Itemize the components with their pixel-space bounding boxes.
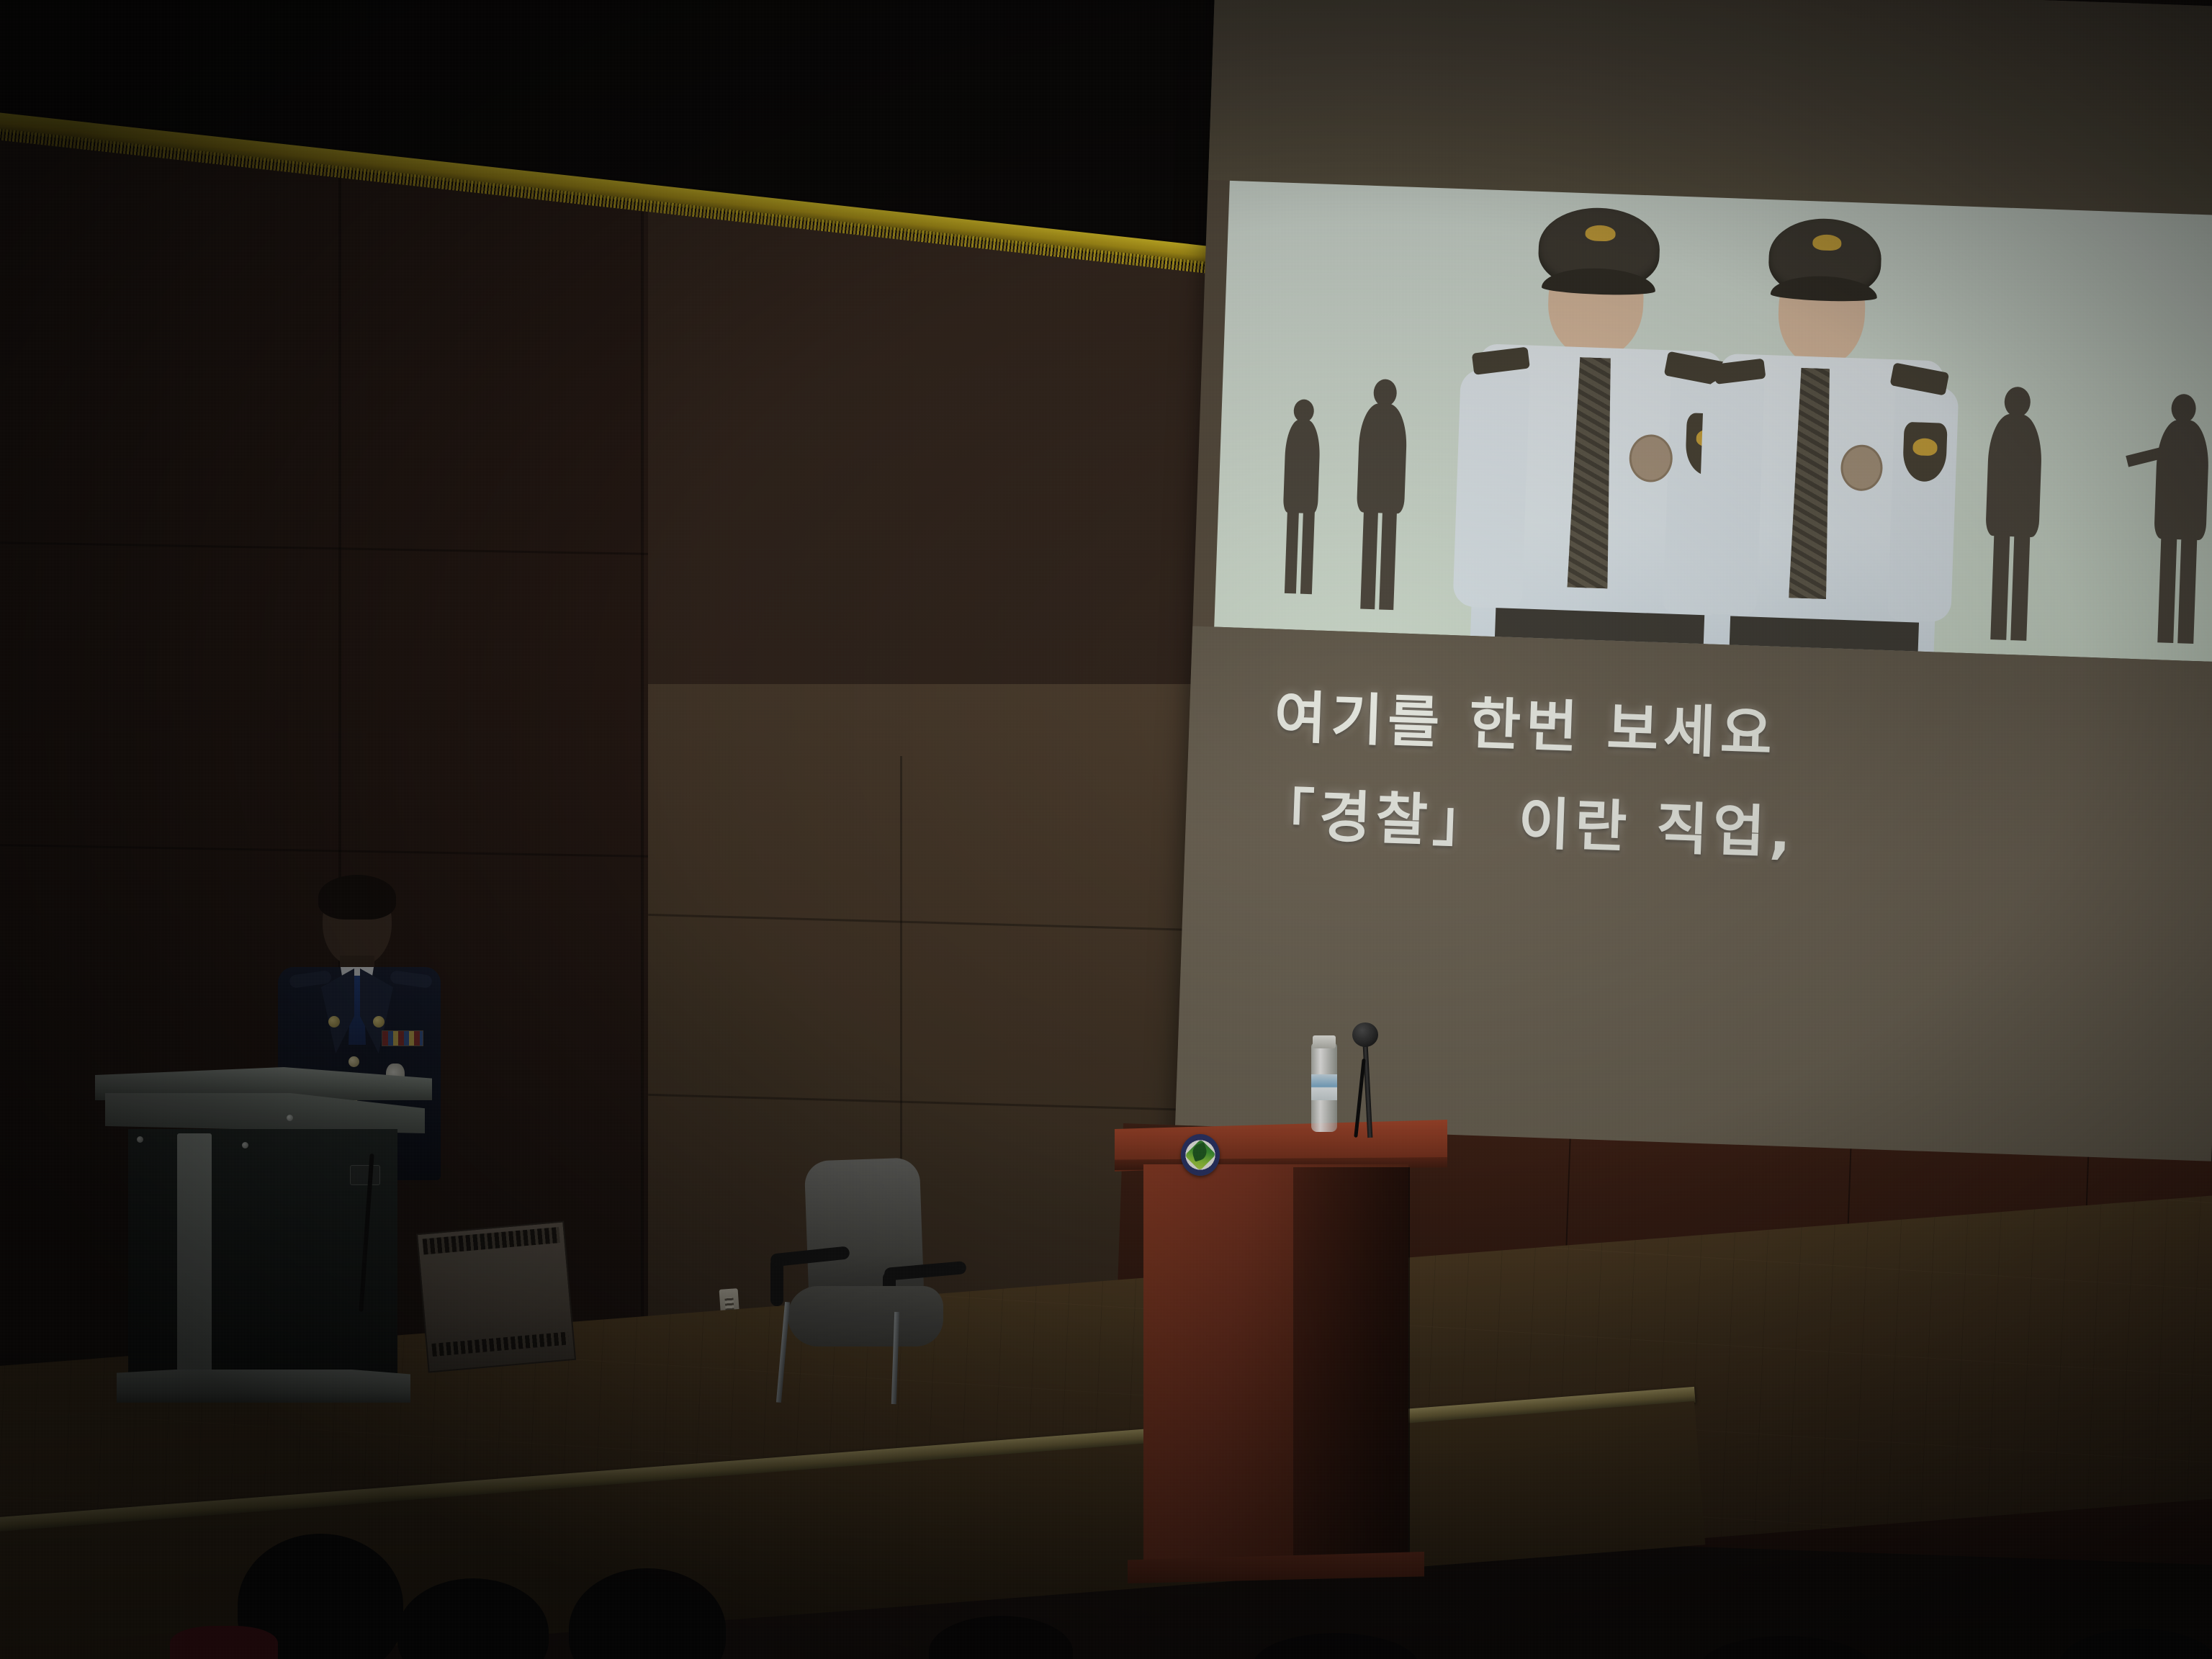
lectern-screw [137,1136,143,1143]
chair-seat [788,1286,943,1346]
officer-arm [1452,369,1529,608]
officer-patch-emblem [1912,438,1938,456]
water-bottle-label [1311,1074,1337,1100]
water-bottle-cap [1313,1035,1336,1048]
silhouette-figure [2157,534,2177,643]
officer-cap-badge [1585,225,1616,241]
silhouette-figure [1283,419,1321,514]
school-crest-emblem [1181,1134,1220,1176]
silhouette-figure [1985,413,2043,537]
lectern-accent-strip [177,1133,212,1375]
wall-seam [900,756,902,1159]
silhouette-figure [1379,509,1397,611]
silhouette-figure [2004,387,2031,418]
presenter-collar-pin-right [373,1016,385,1028]
microphone-capsule-icon [1352,1022,1378,1047]
wooden-podium [1115,1120,1447,1595]
officer-cap-badge [1812,234,1842,251]
silhouette-figure [1357,403,1408,513]
presenter-ribbon-bar [382,1030,423,1046]
audience-clothing [170,1626,278,1659]
officer-arm [1887,385,1959,622]
silhouette-figure [1300,508,1315,594]
silhouette-figure [1373,379,1397,407]
screen-top-band [1208,0,2212,216]
silhouette-figure [1285,507,1299,593]
slide-text-line-2: 「경찰」 이란 직업, [1256,770,1797,869]
presenter-jacket-button [349,1056,359,1067]
wall-heater-unit [416,1220,576,1372]
wall-seam [641,115,644,1339]
silhouette-figure [1990,531,2010,640]
presenter-hair [318,875,396,920]
lectern-screw [242,1142,248,1148]
silhouette-figure [2177,535,2197,644]
heater-top-vent [423,1227,560,1254]
speaker-lectern [108,1067,418,1449]
officer-arm [1696,379,1764,616]
slide-photograph [1214,181,2212,662]
grey-armchair [762,1159,978,1404]
heater-bottom-vent [431,1332,569,1357]
chair-armrest-left-post [770,1257,783,1306]
lectern-screw [287,1115,293,1121]
podium-body-shadow [1293,1167,1410,1568]
projection-screen: 여기를 한번 보세요 「경찰」 이란 직업, [1174,0,2212,1187]
silhouette-figure [2010,532,2030,641]
silhouette-figure [2171,394,2196,423]
auditorium-photo: 여기를 한번 보세요 「경찰」 이란 직업, [0,0,2212,1659]
chair-leg-left [776,1302,790,1403]
silhouette-figure [2154,419,2210,540]
presenter-collar-pin-left [328,1016,340,1028]
lectern-control-plate [350,1165,380,1185]
lectern-base [117,1370,410,1403]
slide-text-line-1: 여기를 한번 보세요 [1273,673,1779,770]
silhouette-figure [1360,508,1378,610]
